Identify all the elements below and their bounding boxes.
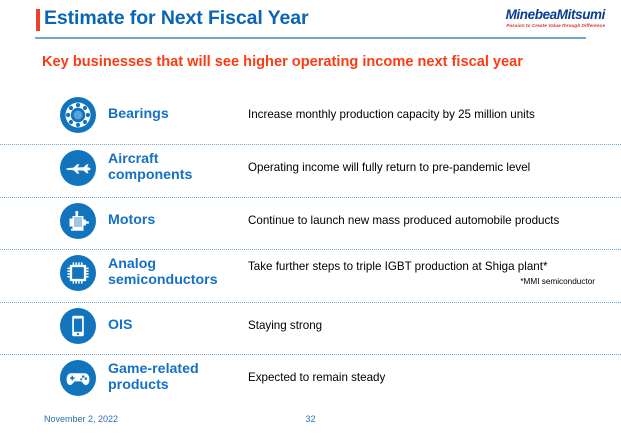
list-item-footnote: *MMI semiconductor <box>248 277 621 286</box>
list-item: OIS Staying strong <box>0 303 621 355</box>
title-accent-bar <box>36 9 40 31</box>
list-item-label: Bearings <box>108 107 244 123</box>
list-item-description: Increase monthly production capacity by … <box>248 108 621 123</box>
list-item-description: Operating income will fully return to pr… <box>248 161 621 176</box>
page-title: Estimate for Next Fiscal Year <box>44 7 308 30</box>
game-controller-icon <box>60 360 96 396</box>
key-message-heading: Key businesses that will see higher oper… <box>42 54 523 70</box>
smartphone-icon <box>60 308 96 344</box>
ball-bearing-icon <box>60 97 96 133</box>
list-item-label: Game-related products <box>108 362 244 394</box>
airplane-icon <box>60 150 96 186</box>
list-item: Analog semiconductors Take further steps… <box>0 250 621 303</box>
list-item-label: OIS <box>108 318 244 334</box>
business-list: Bearings Increase monthly production cap… <box>0 92 621 407</box>
logo-tagline: Passion to Create Value through Differen… <box>506 24 605 29</box>
slide-header: Estimate for Next Fiscal Year MinebeaMit… <box>0 0 621 46</box>
logo-wordmark-part2: Mitsumi <box>557 7 605 22</box>
title-underline-rule <box>35 37 586 39</box>
microchip-icon <box>60 255 96 291</box>
electric-motor-icon <box>60 203 96 239</box>
list-item-label: Aircraft components <box>108 152 244 184</box>
slide-footer: November 2, 2022 32 <box>0 414 621 430</box>
logo-wordmark-part1: Minebea <box>506 7 557 22</box>
company-logo: MinebeaMitsumi Passion to Create Value t… <box>506 8 605 28</box>
list-item-label: Motors <box>108 213 244 229</box>
list-item: Game-related products Expected to remain… <box>0 355 621 407</box>
list-item-description: Staying strong <box>248 319 621 334</box>
list-item-description: Continue to launch new mass produced aut… <box>248 214 621 229</box>
list-item-description: Take further steps to triple IGBT produc… <box>248 260 621 275</box>
list-item-label: Analog semiconductors <box>108 257 244 289</box>
logo-wordmark: MinebeaMitsumi <box>506 8 605 22</box>
slide-canvas: Estimate for Next Fiscal Year MinebeaMit… <box>0 0 621 438</box>
list-item-description: Expected to remain steady <box>248 371 621 386</box>
list-item: Bearings Increase monthly production cap… <box>0 92 621 145</box>
list-item: Aircraft components Operating income wil… <box>0 145 621 198</box>
footer-page-number: 32 <box>0 414 621 424</box>
list-item: Motors Continue to launch new mass produ… <box>0 198 621 250</box>
